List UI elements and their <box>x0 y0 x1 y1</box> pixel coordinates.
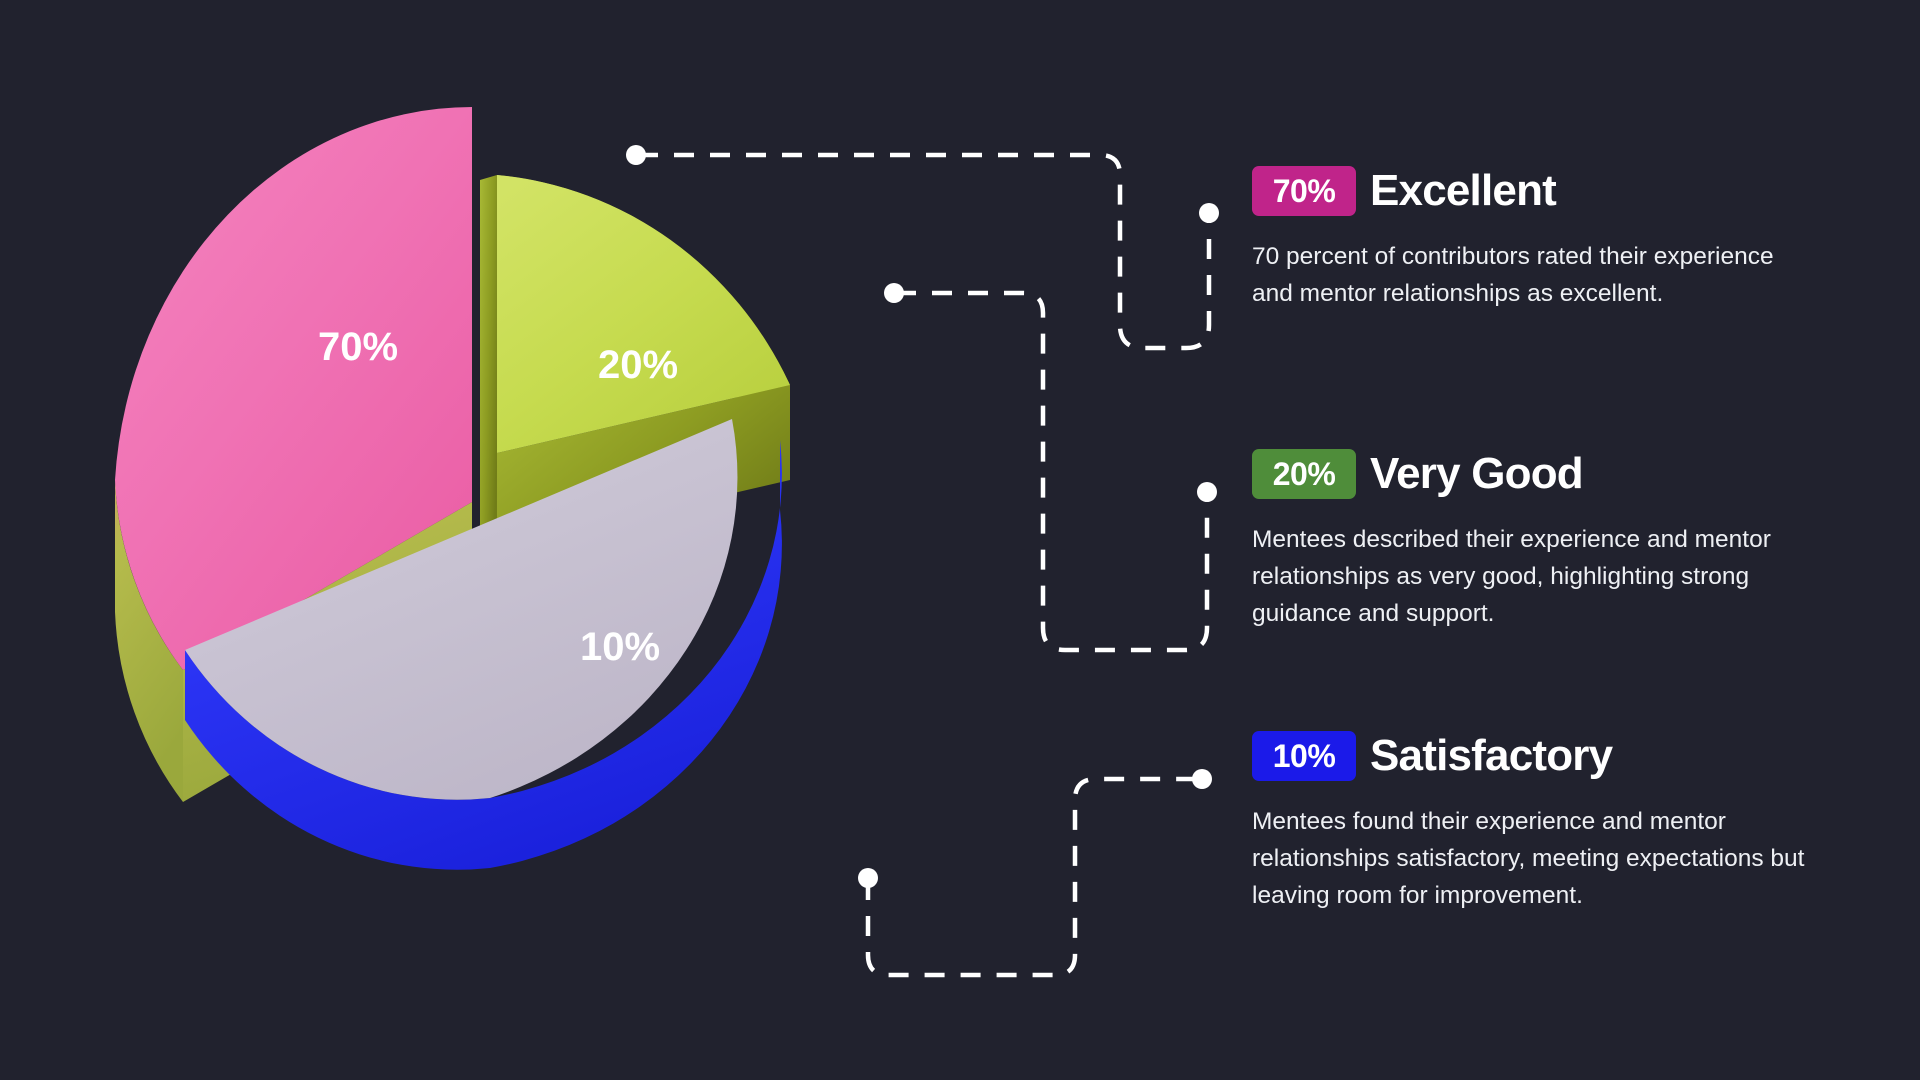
infographic-canvas: 70% 20% 10% <box>0 0 1920 1080</box>
pie-chart: 70% 20% 10% <box>60 40 1020 1040</box>
legend-item-satisfactory[interactable]: 10% Satisfactory Mentees found their exp… <box>1252 731 1832 915</box>
connector-excellent-end-dot <box>1199 203 1219 223</box>
pie-slice-very-good-label: 20% <box>598 343 678 387</box>
legend-item-excellent[interactable]: 70% Excellent 70 percent of contributors… <box>1252 166 1832 312</box>
legend-item-excellent-title: Excellent <box>1370 169 1556 213</box>
pie-chart-svg: 70% 20% 10% <box>60 40 1020 1040</box>
pie-slice-excellent-label: 70% <box>318 325 398 369</box>
connector-satisfactory-end-dot <box>1192 769 1212 789</box>
legend-item-satisfactory-header: 10% Satisfactory <box>1252 731 1832 781</box>
legend-item-very-good-description: Mentees described their experience and m… <box>1252 521 1812 633</box>
legend-item-satisfactory-percent-badge: 10% <box>1252 731 1356 781</box>
pie-slice-very-good-side-left <box>480 175 497 565</box>
legend-item-satisfactory-description: Mentees found their experience and mento… <box>1252 803 1812 915</box>
legend-item-very-good-percent-badge: 20% <box>1252 449 1356 499</box>
connector-very-good-end-dot <box>1197 482 1217 502</box>
legend-item-very-good-title: Very Good <box>1370 452 1583 496</box>
legend-item-very-good[interactable]: 20% Very Good Mentees described their ex… <box>1252 449 1832 633</box>
legend-item-very-good-header: 20% Very Good <box>1252 449 1832 499</box>
legend-panel: 70% Excellent 70 percent of contributors… <box>1252 0 1852 1080</box>
legend-item-satisfactory-title: Satisfactory <box>1370 734 1612 778</box>
legend-item-excellent-header: 70% Excellent <box>1252 166 1832 216</box>
pie-slice-satisfactory-label: 10% <box>580 625 660 669</box>
legend-item-excellent-percent-badge: 70% <box>1252 166 1356 216</box>
legend-item-excellent-description: 70 percent of contributors rated their e… <box>1252 238 1812 312</box>
